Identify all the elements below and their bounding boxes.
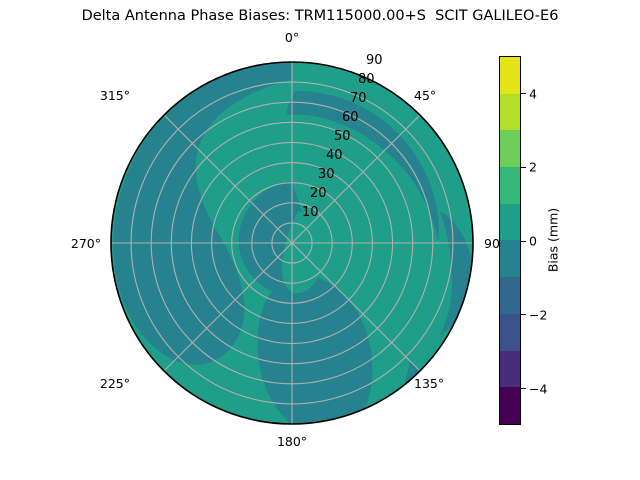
- colorbar-band-9: [500, 57, 520, 94]
- theta-label-225: 225°: [100, 376, 130, 391]
- theta-label-135: 135°: [414, 376, 444, 391]
- r-label-60: 60: [342, 110, 359, 125]
- r-label-20: 20: [310, 186, 327, 201]
- polar-grid-spokes: [111, 62, 473, 424]
- colorbar-ticklabel-0: 0: [529, 234, 537, 249]
- colorbar-band-4: [500, 240, 520, 277]
- theta-label-45: 45°: [414, 88, 436, 103]
- colorbar-tickmark-0: [521, 241, 526, 242]
- colorbar-band-0: [500, 387, 520, 424]
- colorbar-ticklabel-2: 2: [529, 160, 537, 175]
- colorbar-band-3: [500, 277, 520, 314]
- colorbar-tickmark-neg2: [521, 314, 526, 315]
- colorbar-axis-label: Bias (mm): [546, 208, 561, 272]
- page-title: Delta Antenna Phase Biases: TRM115000.00…: [0, 8, 640, 24]
- polar-axes[interactable]: [110, 61, 474, 425]
- r-label-40: 40: [326, 148, 343, 163]
- theta-label-270: 270°: [71, 236, 101, 251]
- colorbar-band-5: [500, 204, 520, 241]
- r-label-70: 70: [350, 91, 367, 106]
- colorbar-tickmark-neg4: [521, 388, 526, 389]
- colorbar-band-2: [500, 314, 520, 351]
- colorbar-band-6: [500, 167, 520, 204]
- colorbar-ticklabel-neg4: −4: [529, 381, 547, 396]
- polar-plot-svg: [110, 61, 474, 425]
- theta-label-90: 90: [484, 236, 500, 251]
- colorbar-band-8: [500, 94, 520, 131]
- colorbar[interactable]: [499, 56, 521, 425]
- colorbar-tickmark-2: [521, 167, 526, 168]
- theta-label-0: 0°: [285, 30, 299, 45]
- r-label-10: 10: [302, 205, 319, 220]
- colorbar-ticklabel-neg2: −2: [529, 307, 547, 322]
- colorbar-band-7: [500, 130, 520, 167]
- r-label-90: 90: [366, 53, 383, 68]
- r-label-30: 30: [318, 167, 335, 182]
- theta-label-315: 315°: [100, 88, 130, 103]
- r-label-50: 50: [334, 129, 351, 144]
- colorbar-band-1: [500, 351, 520, 388]
- colorbar-tickmark-4: [521, 93, 526, 94]
- theta-label-180: 180°: [277, 434, 307, 449]
- colorbar-ticklabel-4: 4: [529, 86, 537, 101]
- figure-canvas: Delta Antenna Phase Biases: TRM115000.00…: [0, 0, 640, 480]
- r-label-80: 80: [358, 72, 375, 87]
